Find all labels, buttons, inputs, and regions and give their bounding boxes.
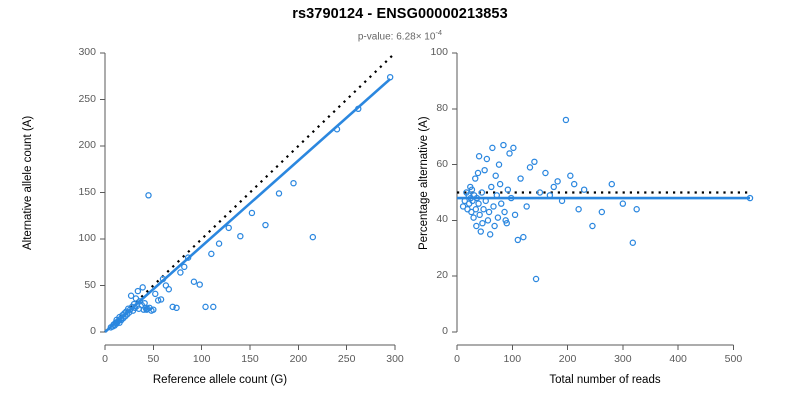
y-tick-label: 300 (78, 46, 96, 58)
y-tick-label: 0 (442, 325, 448, 337)
x-tick-label: 300 (598, 353, 648, 365)
y-tick-label: 60 (436, 158, 448, 170)
y-tick-label: 100 (78, 232, 96, 244)
x-tick-label: 400 (653, 353, 703, 365)
y-tick-label: 150 (78, 186, 96, 198)
left-y-axis-title: Alternative allele count (A) (22, 116, 34, 250)
x-tick-label: 150 (225, 353, 275, 365)
x-tick-label: 0 (432, 353, 482, 365)
y-tick-label: 250 (78, 93, 96, 105)
x-tick-label: 100 (177, 353, 227, 365)
scatter-points (460, 117, 752, 281)
y-tick-label: 200 (78, 139, 96, 151)
panel-percentage-alternative: Percentage alternative (A) Total number … (400, 0, 800, 400)
y-tick-label: 20 (436, 269, 448, 281)
allele-count-plot (0, 0, 400, 400)
x-tick-label: 200 (273, 353, 323, 365)
x-tick-label: 100 (487, 353, 537, 365)
x-tick-label: 250 (322, 353, 372, 365)
percentage-alternative-plot (400, 0, 800, 400)
x-tick-label: 50 (128, 353, 178, 365)
figure-root: rs3790124 - ENSG00000213853 p-value: 6.2… (0, 0, 800, 400)
x-tick-label: 500 (708, 353, 758, 365)
left-x-axis-title: Reference allele count (G) (60, 374, 380, 386)
y-tick-label: 40 (436, 213, 448, 225)
y-tick-label: 80 (436, 102, 448, 114)
y-tick-label: 0 (90, 325, 96, 337)
right-x-axis-title: Total number of reads (440, 374, 770, 386)
y-tick-label: 50 (84, 279, 96, 291)
right-y-axis-title: Percentage alternative (A) (418, 116, 430, 250)
y-tick-label: 100 (430, 46, 448, 58)
x-tick-label: 0 (80, 353, 130, 365)
x-tick-label: 200 (543, 353, 593, 365)
panel-allele-count: Alternative allele count (A) Reference a… (0, 0, 400, 400)
